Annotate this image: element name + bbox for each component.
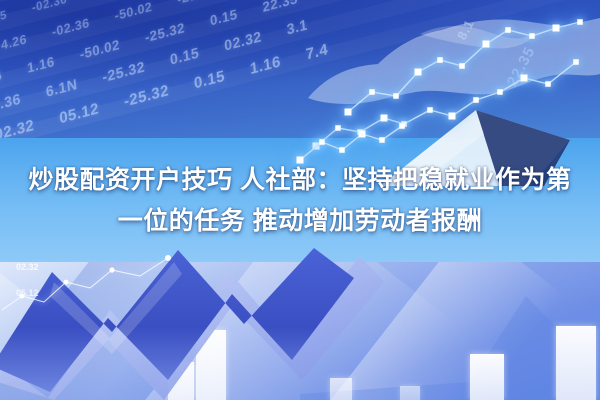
- glowing-line-chart: [0, 0, 600, 175]
- chart-node-marker: [473, 97, 479, 103]
- chart-node-marker: [345, 109, 352, 116]
- chart-node-marker: [545, 81, 551, 87]
- sparkle-node: [109, 267, 114, 272]
- chart-node-marker: [393, 93, 399, 99]
- sparkle-ticker-2: 05.12: [16, 288, 39, 298]
- sparkle-node: [165, 255, 171, 261]
- chart-node-marker: [369, 89, 375, 95]
- chart-node-marker: [339, 147, 345, 153]
- headline-line-1: 炒股配资开户技巧 人社部：坚持把稳就业作为第: [29, 166, 572, 194]
- chart-bar: [556, 326, 596, 400]
- sparkle-ticker-1: 02.32: [16, 262, 39, 272]
- chart-node-marker: [449, 113, 456, 120]
- chart-node-marker: [497, 89, 503, 95]
- chart-node-marker: [427, 107, 433, 113]
- chart-node-marker: [529, 33, 535, 39]
- chart-node-marker: [573, 59, 579, 65]
- chart-node-marker: [359, 131, 366, 138]
- stock-news-banner: -02.36-11.25+45.02-02.3621.0845.02-11.25…: [0, 0, 600, 400]
- chart-polyline: [316, 62, 576, 146]
- chart-node-marker: [505, 27, 511, 33]
- chart-node-marker: [381, 115, 388, 122]
- chart-node-marker: [379, 137, 385, 143]
- headline-line-2: 一位的任务 推动增加劳动者报酬: [14, 201, 586, 242]
- chart-node-marker: [415, 69, 422, 76]
- chart-node-marker: [437, 57, 443, 63]
- chart-node-marker: [483, 41, 490, 48]
- chart-node-marker: [521, 75, 528, 82]
- chart-bar: [470, 354, 504, 400]
- sparkle-node: [64, 280, 69, 285]
- headline-text: 炒股配资开户技巧 人社部：坚持把稳就业作为第 一位的任务 推动增加劳动者报酬: [0, 160, 600, 242]
- chart-node-marker: [399, 123, 405, 129]
- chart-node-marker: [577, 19, 583, 25]
- chart-node-marker: [319, 139, 325, 145]
- chart-node-marker: [335, 125, 341, 131]
- chart-node-marker: [459, 63, 465, 69]
- chart-node-marker: [553, 25, 560, 32]
